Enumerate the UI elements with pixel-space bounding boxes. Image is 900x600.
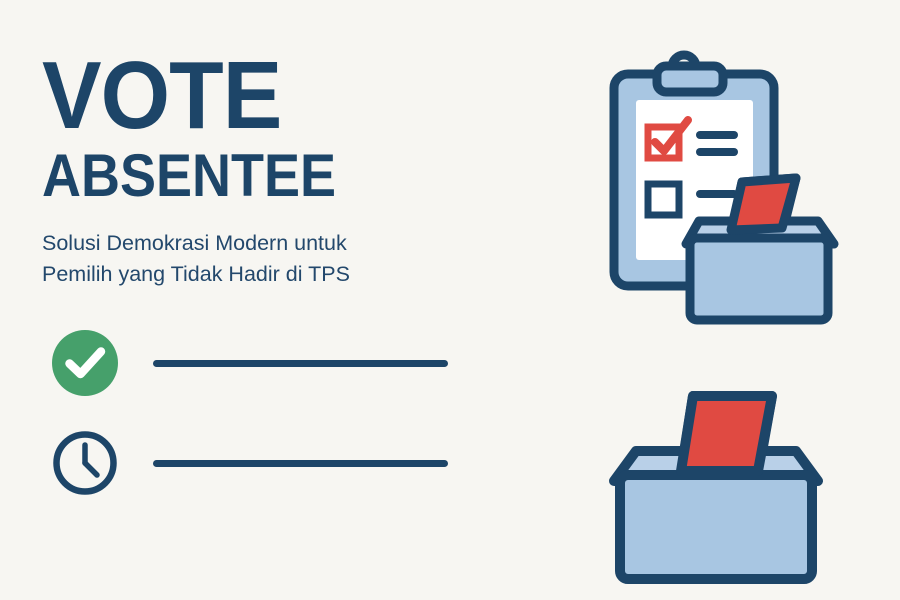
ballot-box-body xyxy=(620,475,812,579)
clipboard-with-ballot-box-illustration xyxy=(600,38,870,338)
clipboard-clip xyxy=(657,55,723,92)
text-column: VOTE ABSENTEE Solusi Demokrasi Modern un… xyxy=(42,52,472,289)
ballot-box-large-illustration xyxy=(600,383,890,593)
check-circle-icon xyxy=(52,330,118,396)
bullet-row-clock xyxy=(52,430,448,496)
clock-icon xyxy=(52,430,118,496)
bullet-line-1 xyxy=(153,360,448,367)
list-line-3 xyxy=(696,190,738,198)
list-line-2 xyxy=(696,148,738,156)
poster-canvas: VOTE ABSENTEE Solusi Demokrasi Modern un… xyxy=(0,0,900,600)
subtitle-line-2: Pemilih yang Tidak Hadir di TPS xyxy=(42,259,432,290)
headline-vote: VOTE xyxy=(42,52,442,140)
list-line-1 xyxy=(696,131,738,139)
bullet-row-check xyxy=(52,330,448,396)
headline-absentee: ABSENTEE xyxy=(42,146,429,206)
subtitle-line-1: Solusi Demokrasi Modern untuk xyxy=(42,228,432,259)
bullet-line-2 xyxy=(153,460,448,467)
subtitle: Solusi Demokrasi Modern untuk Pemilih ya… xyxy=(42,228,432,289)
